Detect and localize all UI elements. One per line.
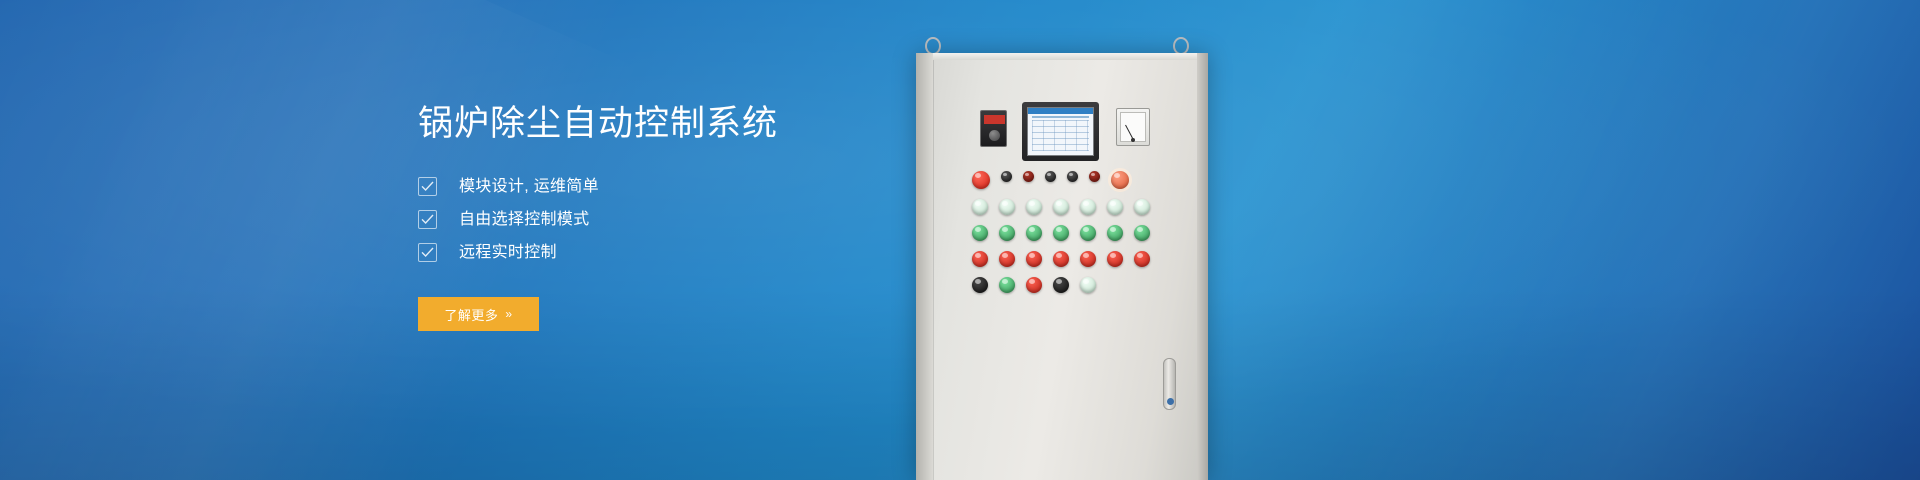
indicator-lamp[interactable] bbox=[1107, 251, 1123, 267]
feature-item-label: 远程实时控制 bbox=[459, 243, 557, 263]
indicator-lamp[interactable] bbox=[1026, 225, 1042, 241]
feature-item: 远程实时控制 bbox=[418, 236, 938, 269]
feature-item-label: 模块设计, 运维简单 bbox=[459, 177, 599, 197]
indicator-lamp[interactable] bbox=[1045, 171, 1056, 182]
learn-more-button[interactable]: 了解更多 » bbox=[418, 297, 539, 331]
indicator-lamp[interactable] bbox=[1053, 251, 1069, 267]
digital-counter-instrument bbox=[980, 110, 1007, 147]
indicator-lamp[interactable] bbox=[999, 277, 1015, 293]
indicator-lamp[interactable] bbox=[1067, 171, 1078, 182]
lamp-row bbox=[972, 251, 1160, 267]
hmi-data-grid bbox=[1032, 120, 1089, 151]
indicator-lamp[interactable] bbox=[1080, 199, 1096, 215]
indicator-lamp[interactable] bbox=[1001, 171, 1012, 182]
cabinet-door-handle[interactable] bbox=[1163, 358, 1176, 410]
cabinet-top-edge bbox=[916, 53, 1208, 60]
indicator-lamp[interactable] bbox=[1134, 199, 1150, 215]
indicator-lamp[interactable] bbox=[1026, 277, 1042, 293]
indicator-lamp[interactable] bbox=[1026, 251, 1042, 267]
meter-pivot bbox=[1131, 138, 1135, 142]
indicator-lamp[interactable] bbox=[1134, 251, 1150, 267]
indicator-lamp-grid bbox=[972, 171, 1160, 303]
indicator-lamp[interactable] bbox=[1134, 225, 1150, 241]
hmi-screen bbox=[1027, 107, 1094, 156]
feature-item: 自由选择控制模式 bbox=[418, 203, 938, 236]
indicator-lamp[interactable] bbox=[1107, 225, 1123, 241]
hmi-text-row bbox=[1032, 116, 1089, 118]
indicator-lamp[interactable] bbox=[1080, 225, 1096, 241]
indicator-lamp[interactable] bbox=[999, 225, 1015, 241]
indicator-lamp[interactable] bbox=[1053, 277, 1069, 293]
indicator-lamp[interactable] bbox=[999, 199, 1015, 215]
lamp-row bbox=[972, 199, 1160, 215]
learn-more-label: 了解更多 bbox=[444, 305, 498, 324]
indicator-lamp[interactable] bbox=[1107, 199, 1123, 215]
indicator-lamp[interactable] bbox=[1026, 199, 1042, 215]
cabinet-left-edge bbox=[916, 53, 933, 480]
hmi-touch-panel[interactable] bbox=[1022, 102, 1099, 161]
indicator-lamp[interactable] bbox=[972, 277, 988, 293]
lamp-row bbox=[972, 277, 1160, 293]
indicator-lamp[interactable] bbox=[972, 251, 988, 267]
hero-title: 锅炉除尘自动控制系统 bbox=[418, 103, 938, 145]
lamp-row bbox=[972, 171, 1160, 189]
hero-banner: 锅炉除尘自动控制系统 模块设计, 运维简单 自由选择控制模式 bbox=[0, 0, 1920, 480]
counter-display bbox=[984, 115, 1005, 124]
cabinet-body bbox=[916, 53, 1208, 480]
feature-item: 模块设计, 运维简单 bbox=[418, 170, 938, 203]
counter-knob-icon bbox=[989, 130, 1000, 141]
hero-copy: 锅炉除尘自动控制系统 模块设计, 运维简单 自由选择控制模式 bbox=[418, 103, 938, 331]
cabinet-right-edge bbox=[1197, 53, 1208, 480]
chevron-right-icon: » bbox=[505, 307, 512, 321]
background-streak bbox=[1243, 0, 1920, 480]
lamp-row bbox=[972, 225, 1160, 241]
control-cabinet-photo bbox=[900, 0, 1300, 480]
indicator-lamp[interactable] bbox=[1080, 277, 1096, 293]
checkbox-check-icon bbox=[418, 177, 437, 196]
indicator-lamp[interactable] bbox=[972, 225, 988, 241]
indicator-lamp[interactable] bbox=[1080, 251, 1096, 267]
checkbox-check-icon bbox=[418, 210, 437, 229]
indicator-lamp[interactable] bbox=[972, 171, 990, 189]
feature-item-label: 自由选择控制模式 bbox=[459, 210, 589, 230]
indicator-lamp[interactable] bbox=[999, 251, 1015, 267]
cabinet-door-seam bbox=[933, 60, 934, 480]
indicator-lamp[interactable] bbox=[1023, 171, 1034, 182]
lock-icon bbox=[1167, 398, 1174, 405]
indicator-lamp[interactable] bbox=[1089, 171, 1100, 182]
indicator-lamp[interactable] bbox=[972, 199, 988, 215]
analog-panel-meter bbox=[1116, 108, 1150, 146]
checkbox-check-icon bbox=[418, 243, 437, 262]
indicator-lamp[interactable] bbox=[1111, 171, 1129, 189]
indicator-lamp[interactable] bbox=[1053, 199, 1069, 215]
indicator-lamp[interactable] bbox=[1053, 225, 1069, 241]
feature-list: 模块设计, 运维简单 自由选择控制模式 远程实时控制 bbox=[418, 170, 938, 269]
hmi-title-bar bbox=[1028, 108, 1093, 114]
